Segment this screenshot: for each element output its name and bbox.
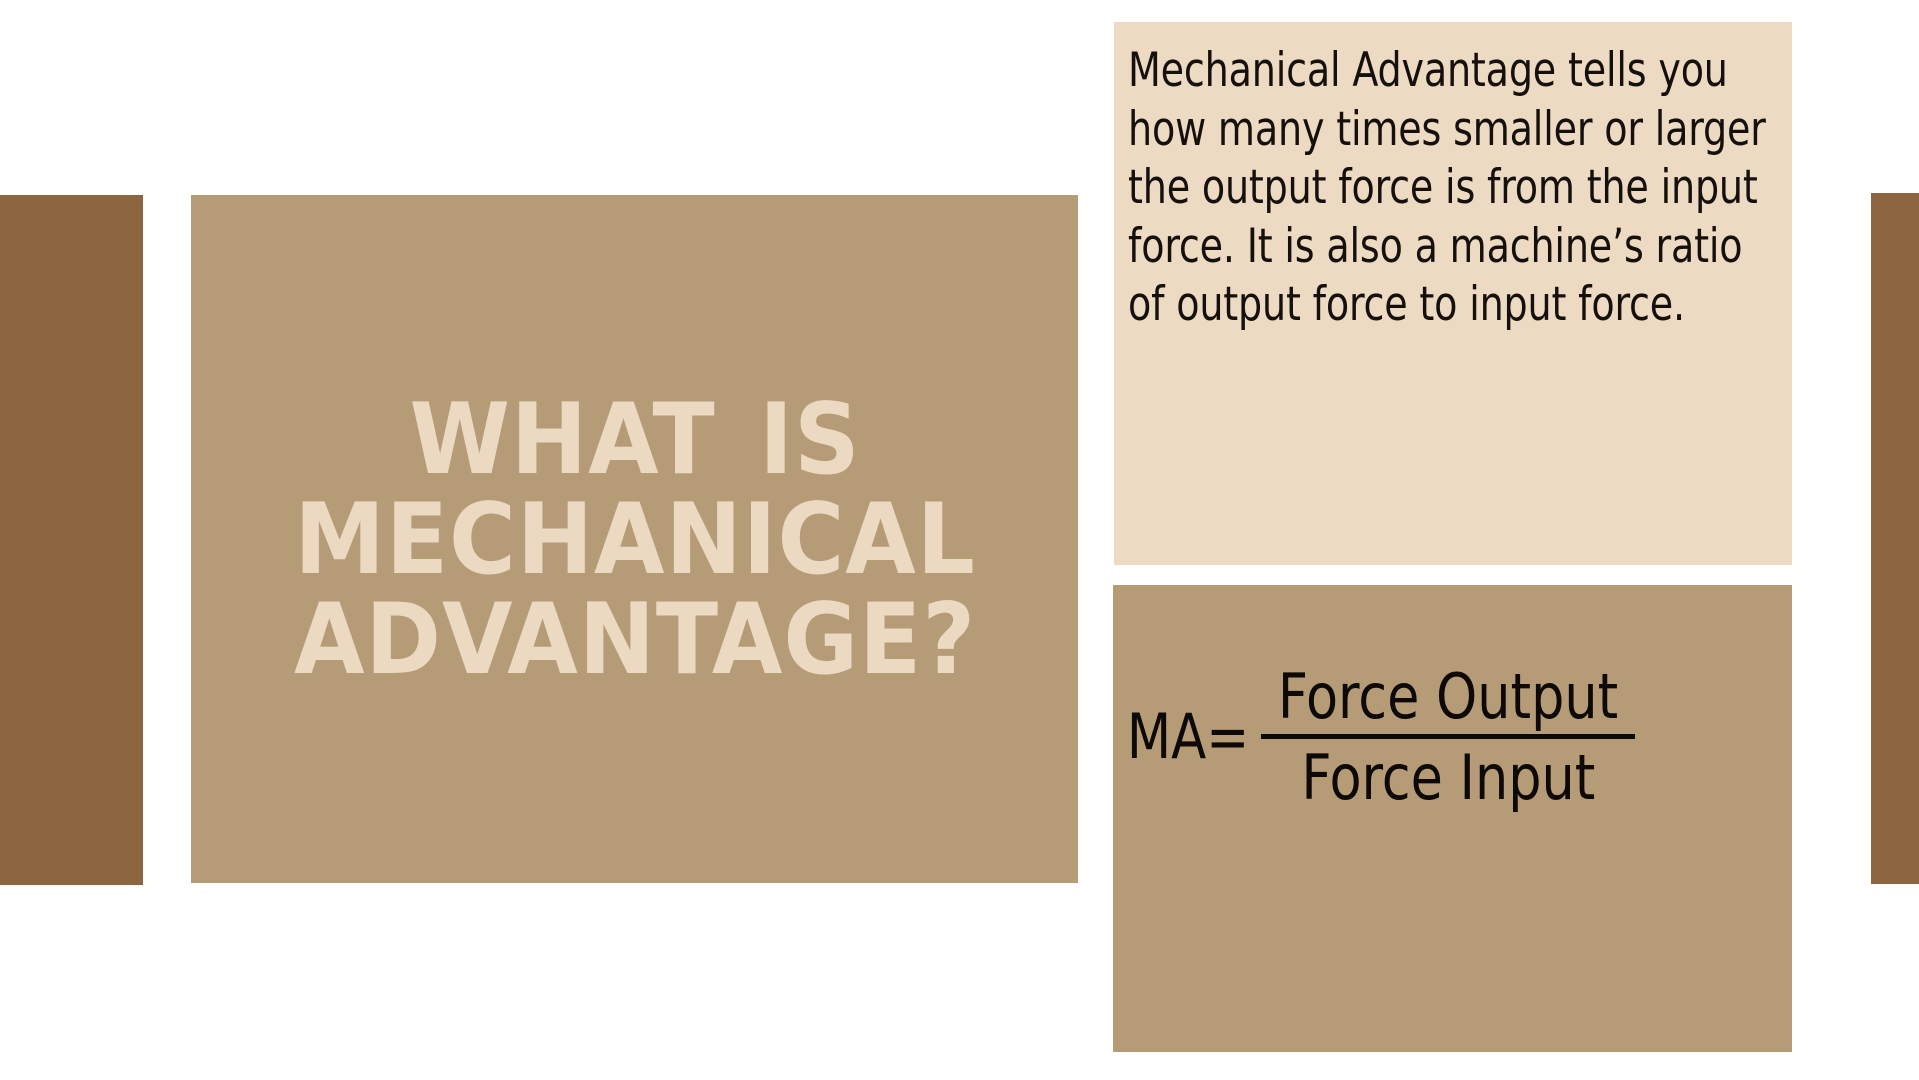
formula-left-hand-side: MA= <box>1125 706 1249 768</box>
formula-box: MA= Force Output Force Input <box>1113 585 1792 1052</box>
fraction-bar-icon <box>1261 734 1635 739</box>
left-accent-bar <box>0 195 143 885</box>
slide-canvas: WHAT IS MECHANICAL ADVANTAGE? Mechanical… <box>0 0 1919 1080</box>
title-block: WHAT IS MECHANICAL ADVANTAGE? <box>191 195 1078 883</box>
right-accent-bar <box>1871 193 1919 884</box>
formula-fraction: Force Output Force Input <box>1261 662 1635 813</box>
fraction-denominator: Force Input <box>1295 743 1600 812</box>
definition-text: Mechanical Advantage tells you how many … <box>1128 42 1777 335</box>
definition-box: Mechanical Advantage tells you how many … <box>1114 22 1792 565</box>
mechanical-advantage-formula: MA= Force Output Force Input <box>1125 612 1780 862</box>
fraction-numerator: Force Output <box>1272 662 1624 731</box>
page-title: WHAT IS MECHANICAL ADVANTAGE? <box>244 391 1025 691</box>
